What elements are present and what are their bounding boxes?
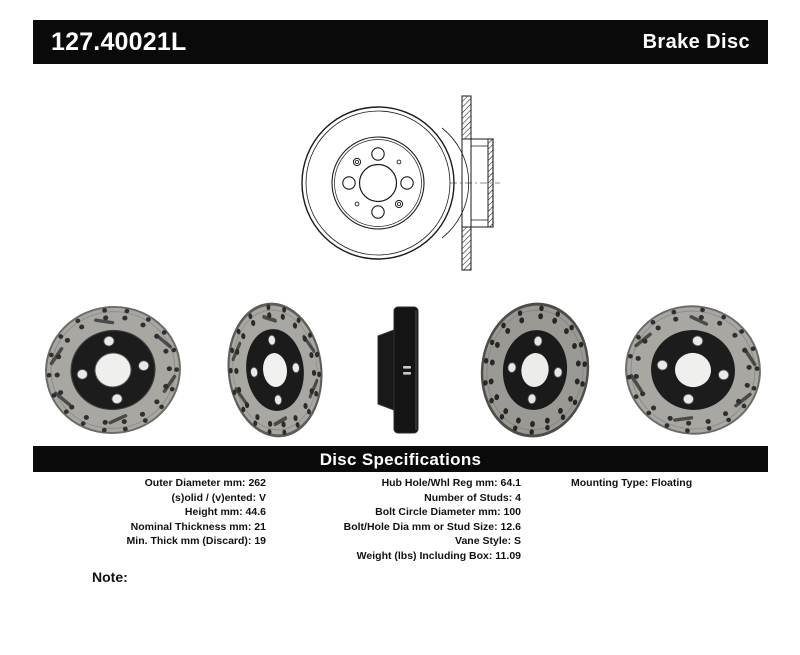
- spec-row-vane-style: Vane Style: S: [268, 534, 523, 549]
- spec-row-outer-diameter: Outer Diameter mm: 262: [33, 476, 268, 491]
- spec-row-number-of-studs: Number of Studs: 4: [268, 491, 523, 506]
- rotor-face-line-drawing: [302, 107, 454, 259]
- note-label: Note:: [92, 570, 128, 584]
- spec-row-solid-vented: (s)olid / (v)ented: V: [33, 491, 268, 506]
- rotor-cross-section-line-drawing: [442, 96, 500, 270]
- disc-specifications-title: Disc Specifications: [320, 451, 482, 468]
- photo-rear-angled-left: [465, 300, 605, 440]
- technical-line-drawing: [300, 88, 515, 278]
- spec-row-bolt-hole-dia: Bolt/Hole Dia mm or Stud Size: 12.6: [268, 520, 523, 535]
- photo-front-angled-right: [208, 300, 343, 440]
- product-type-label: Brake Disc: [643, 32, 750, 52]
- disc-specifications-body: Outer Diameter mm: 262 (s)olid / (v)ente…: [33, 476, 768, 596]
- product-photo-row: [33, 300, 768, 440]
- spec-row-bolt-circle-diameter: Bolt Circle Diameter mm: 100: [268, 505, 523, 520]
- spec-column-middle: Hub Hole/Whl Reg mm: 64.1 Number of Stud…: [268, 476, 523, 596]
- photo-edge-profile: [363, 300, 438, 440]
- spec-row-height: Height mm: 44.6: [33, 505, 268, 520]
- header-bar: 127.40021L Brake Disc: [33, 20, 768, 64]
- spec-column-left: Outer Diameter mm: 262 (s)olid / (v)ente…: [33, 476, 268, 596]
- disc-specifications-header: Disc Specifications: [33, 446, 768, 472]
- spec-row-nominal-thickness: Nominal Thickness mm: 21: [33, 520, 268, 535]
- spec-row-mounting-type: Mounting Type: Floating: [523, 476, 768, 491]
- photo-rear-angled-right: [613, 300, 773, 440]
- spec-row-weight: Weight (lbs) Including Box: 11.09: [268, 549, 523, 564]
- part-number: 127.40021L: [51, 30, 186, 55]
- spec-column-right: Mounting Type: Floating: [523, 476, 768, 596]
- spec-row-hub-hole: Hub Hole/Whl Reg mm: 64.1: [268, 476, 523, 491]
- spec-row-min-thickness: Min. Thick mm (Discard): 19: [33, 534, 268, 549]
- photo-front-angled-left: [33, 300, 193, 440]
